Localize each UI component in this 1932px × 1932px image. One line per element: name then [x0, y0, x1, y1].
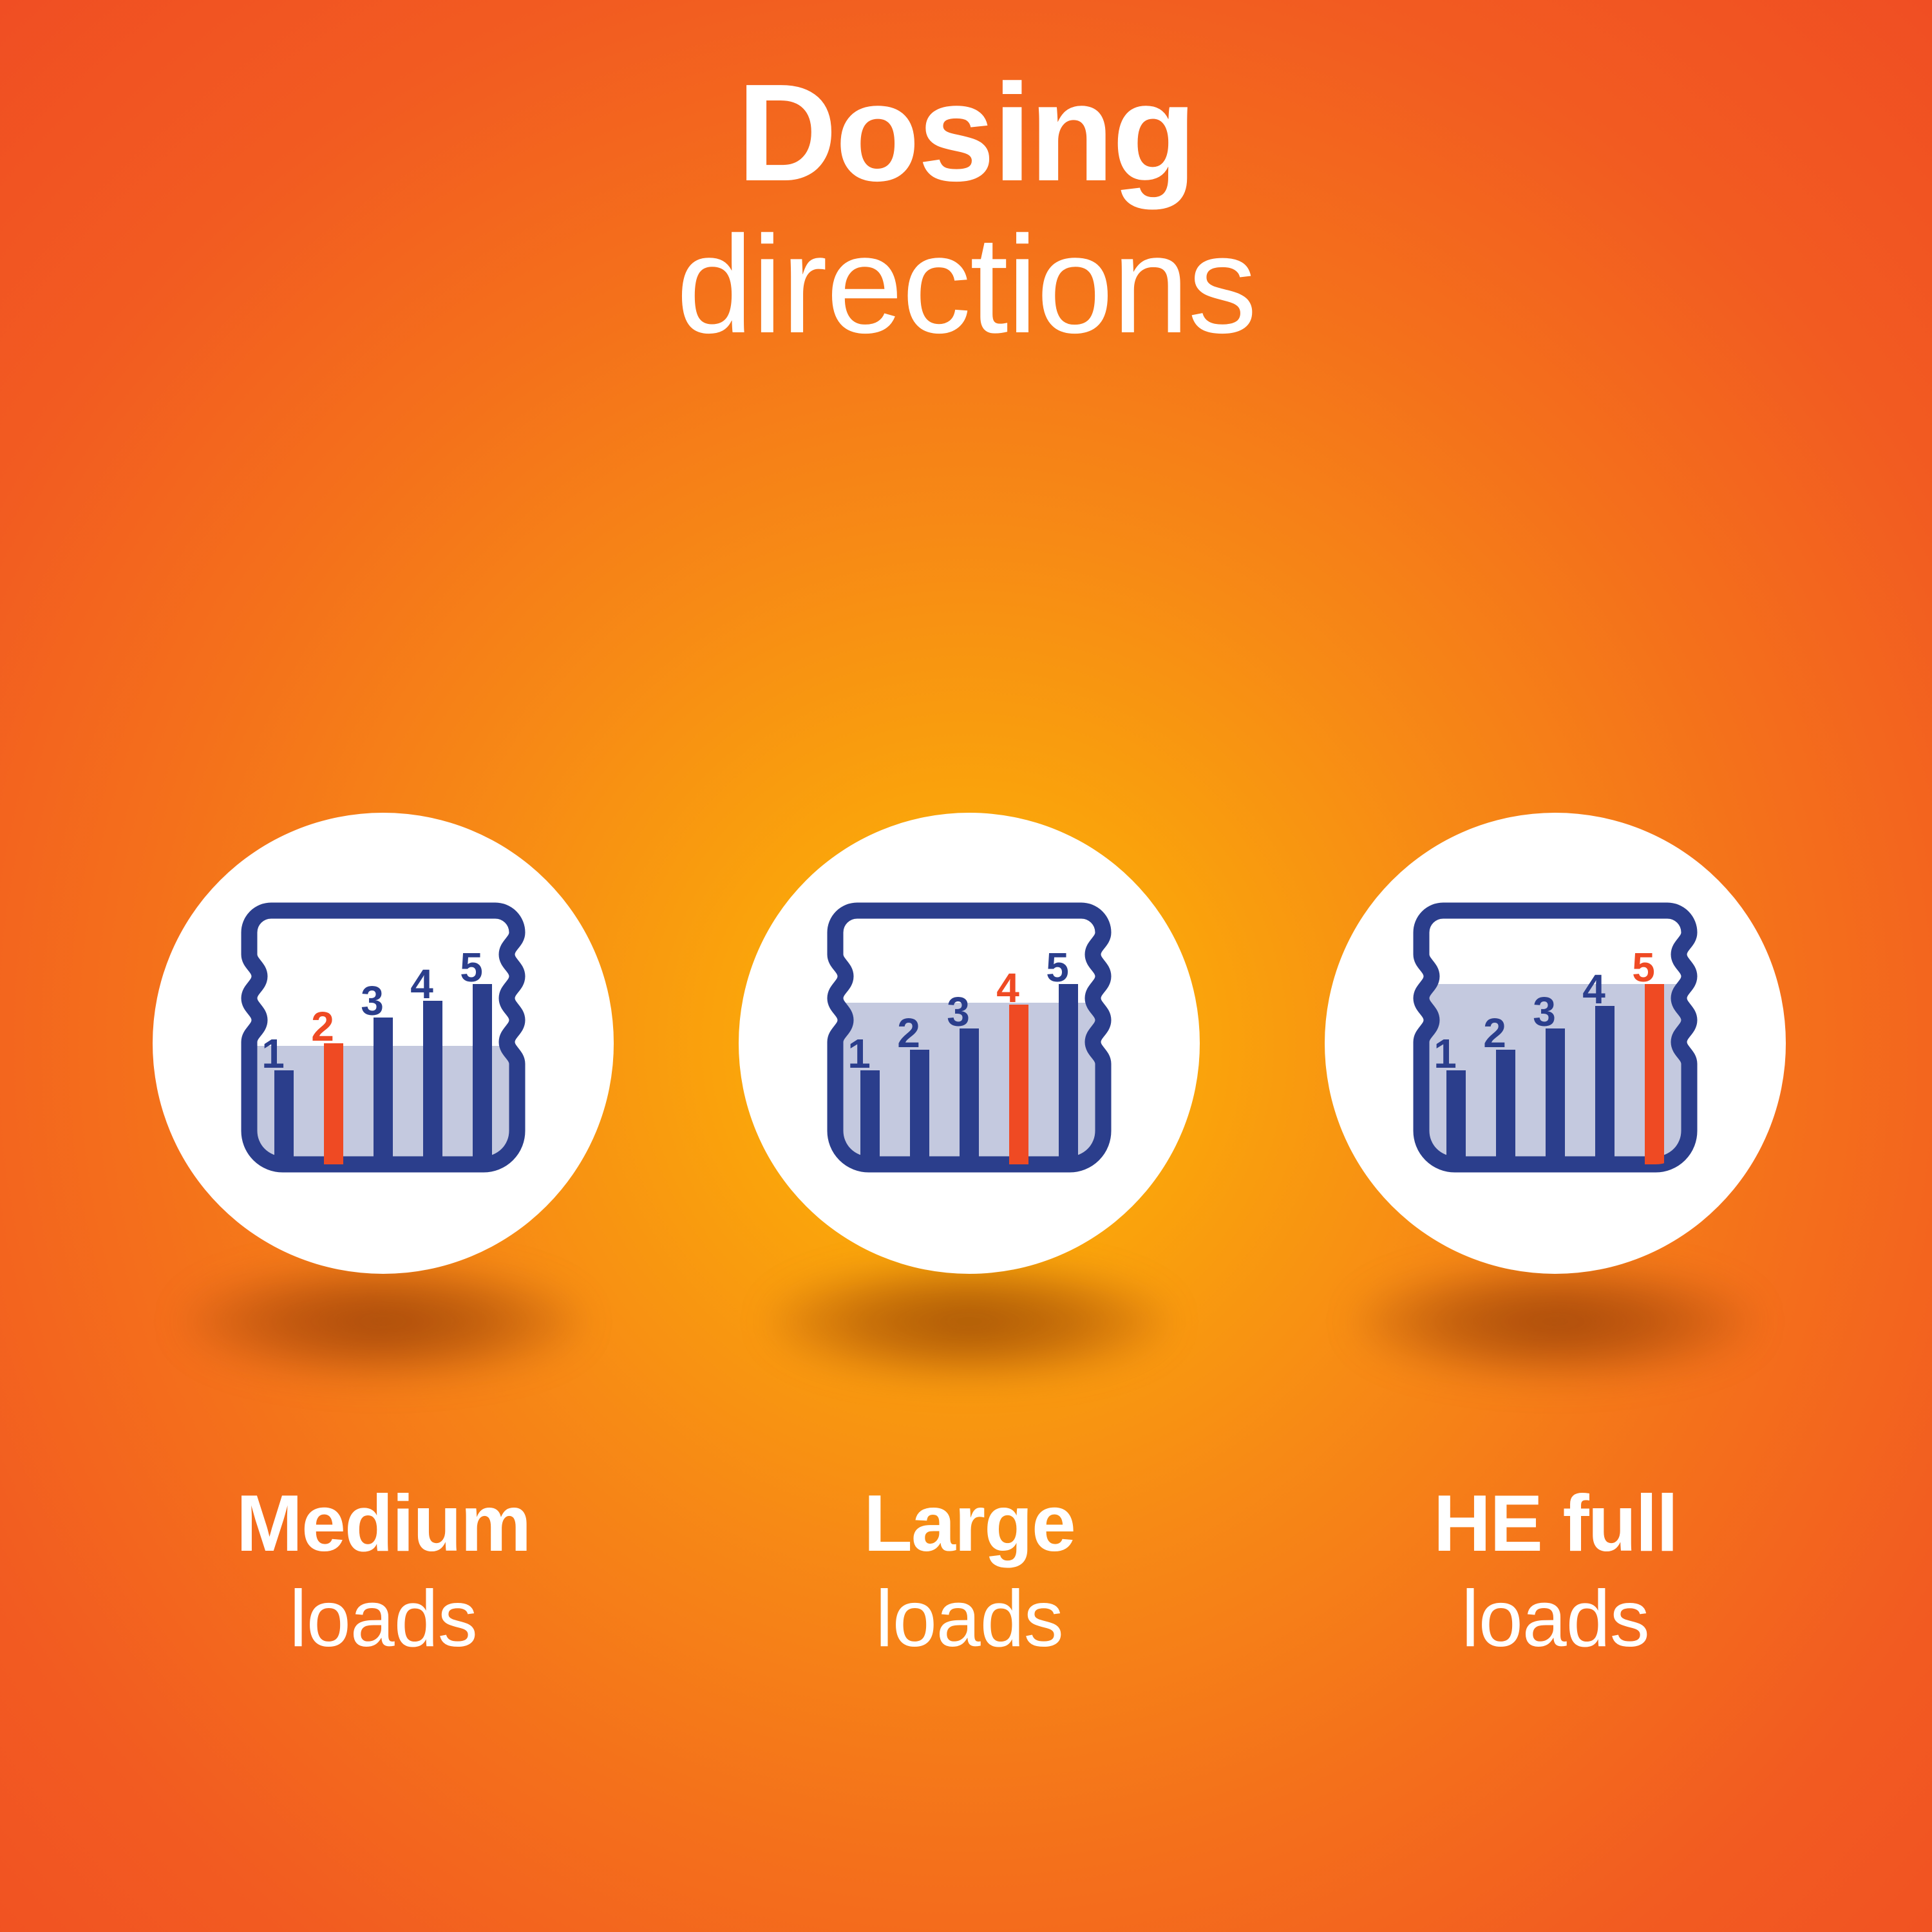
- dose-bar-label-4: 4: [410, 961, 433, 1007]
- dose-bar-4-highlight: [1009, 1005, 1028, 1164]
- dose-bar-5: [1059, 984, 1078, 1164]
- dose-bar-3: [374, 1018, 393, 1164]
- caption-he-full: HE full loads: [1325, 1481, 1786, 1671]
- dose-bar-1: [274, 1070, 294, 1164]
- dose-bar-5-highlight: [1645, 984, 1664, 1164]
- dose-bar-5: [473, 984, 492, 1164]
- caption-he-full-light: loads: [1325, 1567, 1786, 1671]
- dosing-directions-graphic: Dosing directions: [0, 0, 1932, 1932]
- dosing-cap-medium-icon: 1 2 3 4 5: [153, 813, 614, 1274]
- dose-bar-label-1: 1: [848, 1030, 871, 1077]
- page-title: Dosing directions: [0, 62, 1932, 366]
- dose-bar-3: [960, 1028, 979, 1164]
- dose-bar-2-highlight: [324, 1043, 343, 1164]
- dose-bar-label-5: 5: [1046, 944, 1069, 990]
- dose-bar-label-3: 3: [947, 989, 970, 1035]
- caption-medium-light: loads: [153, 1567, 614, 1671]
- dose-bar-label-5: 5: [1632, 944, 1655, 990]
- title-line-dosing: Dosing: [0, 62, 1932, 203]
- dose-bar-1: [1446, 1070, 1466, 1164]
- caption-medium: Medium loads: [153, 1481, 614, 1671]
- dose-bar-4: [1595, 1006, 1615, 1164]
- dose-bar-3: [1546, 1028, 1565, 1164]
- caption-he-full-strong: HE full: [1325, 1481, 1786, 1567]
- dose-bar-label-2: 2: [1483, 1010, 1506, 1056]
- dosing-card-he-full[interactable]: 1 2 3 4 5: [1325, 813, 1786, 1274]
- caption-medium-strong: Medium: [153, 1481, 614, 1567]
- caption-large: Large loads: [739, 1481, 1200, 1671]
- caption-large-light: loads: [739, 1567, 1200, 1671]
- dosing-cap-he-full-icon: 1 2 3 4 5: [1325, 813, 1786, 1274]
- title-line-directions: directions: [0, 203, 1932, 366]
- captions-row: Medium loads Large loads HE full loads: [0, 1481, 1932, 1771]
- dose-bar-4: [423, 1001, 442, 1164]
- dose-bar-label-3: 3: [361, 978, 384, 1024]
- dose-bar-label-1: 1: [1434, 1030, 1457, 1077]
- card-shadow: [1356, 1264, 1755, 1379]
- dose-bar-label-4: 4: [1582, 966, 1605, 1012]
- dose-bar-label-5: 5: [460, 944, 483, 990]
- dose-bar-label-2: 2: [311, 1003, 334, 1050]
- dosing-card-large[interactable]: 1 2 3 4 5: [739, 813, 1200, 1274]
- dosing-cards-row: 1 2 3 4 5: [0, 813, 1932, 1302]
- dosing-cap-large-icon: 1 2 3 4 5: [739, 813, 1200, 1274]
- dose-bar-2: [910, 1050, 929, 1164]
- caption-large-strong: Large: [739, 1481, 1200, 1567]
- dose-bar-label-2: 2: [897, 1010, 920, 1056]
- dose-bar-label-1: 1: [261, 1030, 285, 1077]
- dosing-card-medium[interactable]: 1 2 3 4 5: [153, 813, 614, 1274]
- dose-bar-2: [1496, 1050, 1515, 1164]
- dose-bar-label-3: 3: [1533, 989, 1556, 1035]
- card-shadow: [184, 1264, 583, 1379]
- dose-bar-label-4: 4: [996, 965, 1019, 1011]
- card-shadow: [770, 1264, 1169, 1379]
- dose-bar-1: [860, 1070, 880, 1164]
